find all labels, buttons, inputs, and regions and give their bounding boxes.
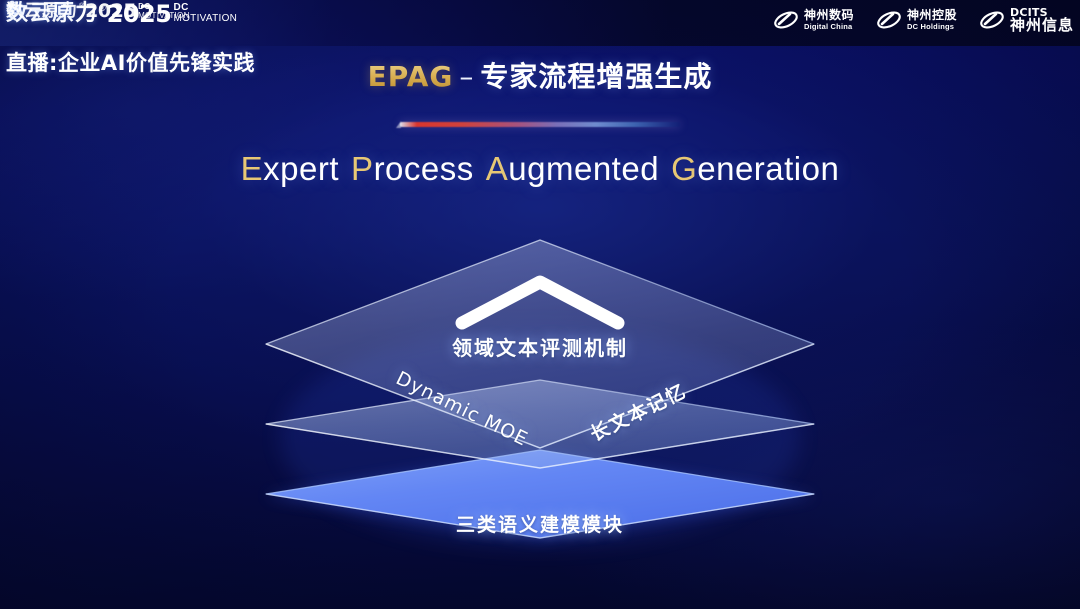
watermark-dc-line1: DC: [138, 3, 190, 11]
watermark-dc-line2: MOTIVATION: [138, 11, 190, 20]
watermark-dc-motivation: DC MOTIVATION: [138, 3, 190, 20]
watermark-registered-mark: ®: [79, 2, 84, 11]
watermark-name-cn: 数云原力: [6, 2, 78, 21]
watermark-logo: 数云原力 ® 2025 DC MOTIVATION: [6, 2, 1072, 603]
watermark-year: 2025: [85, 2, 136, 21]
slide-stage: 数云原力 ® 2025 DC MOTIVATION 直播:企业AI价值先锋实践 …: [0, 0, 1080, 609]
